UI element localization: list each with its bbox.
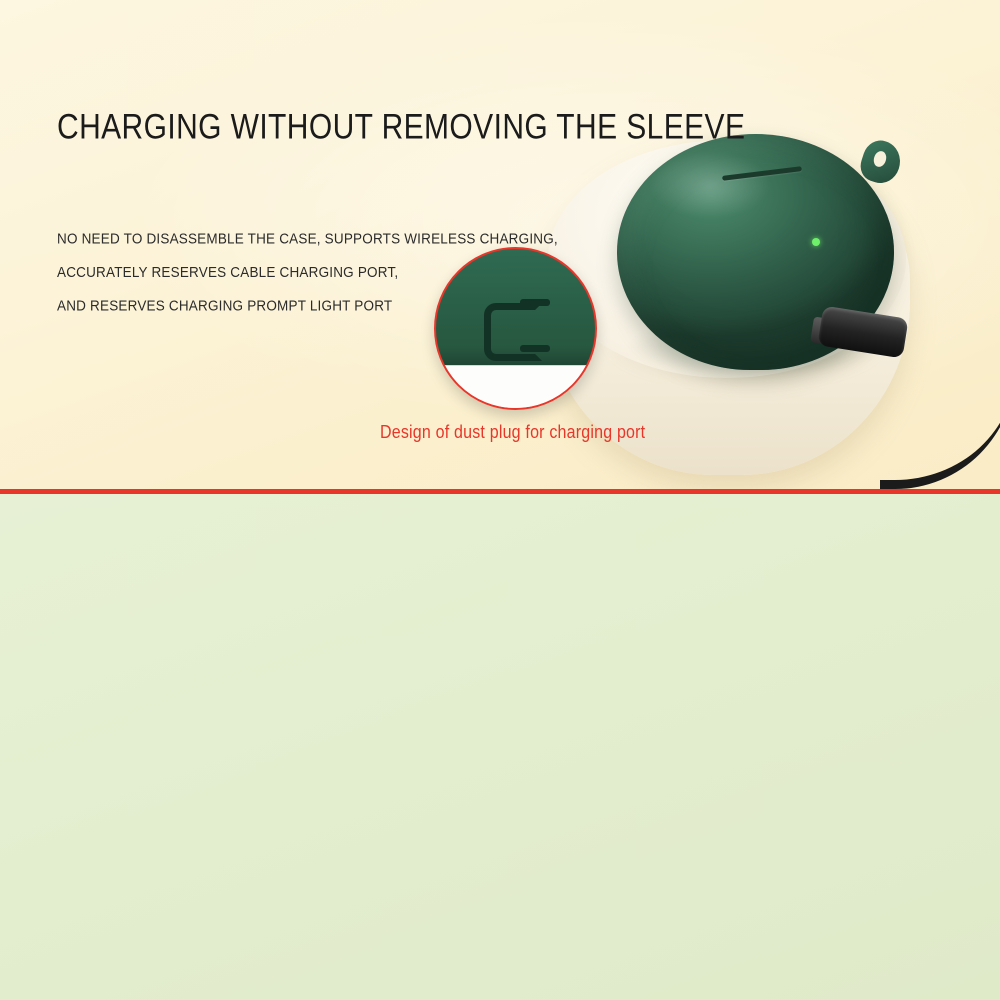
dust-plug-zoom-base	[436, 365, 595, 408]
dust-plug-clip-arm-bottom	[520, 345, 550, 352]
green-case-led-indicator	[812, 238, 820, 246]
top-panel-body-line-3: AND RESERVES CHARGING PROMPT LIGHT PORT	[57, 289, 558, 323]
bottom-panel: SUPPORT WIRELESS CHARGING PUT IT DOWN AN…	[0, 494, 1000, 1000]
top-panel-body: NO NEED TO DISASSEMBLE THE CASE, SUPPORT…	[57, 222, 558, 323]
dust-plug-caption: Design of dust plug for charging port	[380, 423, 645, 444]
green-case-highlight	[650, 152, 770, 218]
top-panel-body-line-1: NO NEED TO DISASSEMBLE THE CASE, SUPPORT…	[57, 222, 558, 256]
top-panel: CHARGING WITHOUT REMOVING THE SLEEVE NO …	[0, 0, 1000, 489]
product-infographic: CHARGING WITHOUT REMOVING THE SLEEVE NO …	[0, 0, 1000, 1000]
top-panel-title: CHARGING WITHOUT REMOVING THE SLEEVE	[57, 108, 745, 148]
top-panel-body-line-2: ACCURATELY RESERVES CABLE CHARGING PORT,	[57, 256, 558, 290]
